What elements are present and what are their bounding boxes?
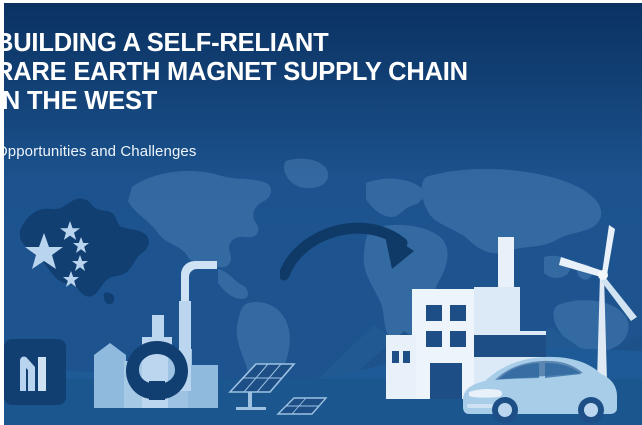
poster-cover: BUILDING A SELF-RELIANT RARE EARTH MAGNE… <box>4 3 642 425</box>
title-line-3: IN THE WEST <box>4 87 642 116</box>
electric-car-icon <box>459 348 619 423</box>
title-line-2: RARE EARTH MAGNET SUPPLY CHAIN <box>4 58 642 87</box>
magnet-badge-icon <box>4 339 74 411</box>
title-line-1: BUILDING A SELF-RELIANT <box>4 29 642 58</box>
title-block: BUILDING A SELF-RELIANT RARE EARTH MAGNE… <box>4 29 642 116</box>
china-map-icon <box>8 185 158 310</box>
subtitle: Opportunities and Challenges <box>4 143 196 160</box>
solar-panels-icon <box>226 358 346 418</box>
horseshoe-magnet-icon <box>122 339 192 401</box>
